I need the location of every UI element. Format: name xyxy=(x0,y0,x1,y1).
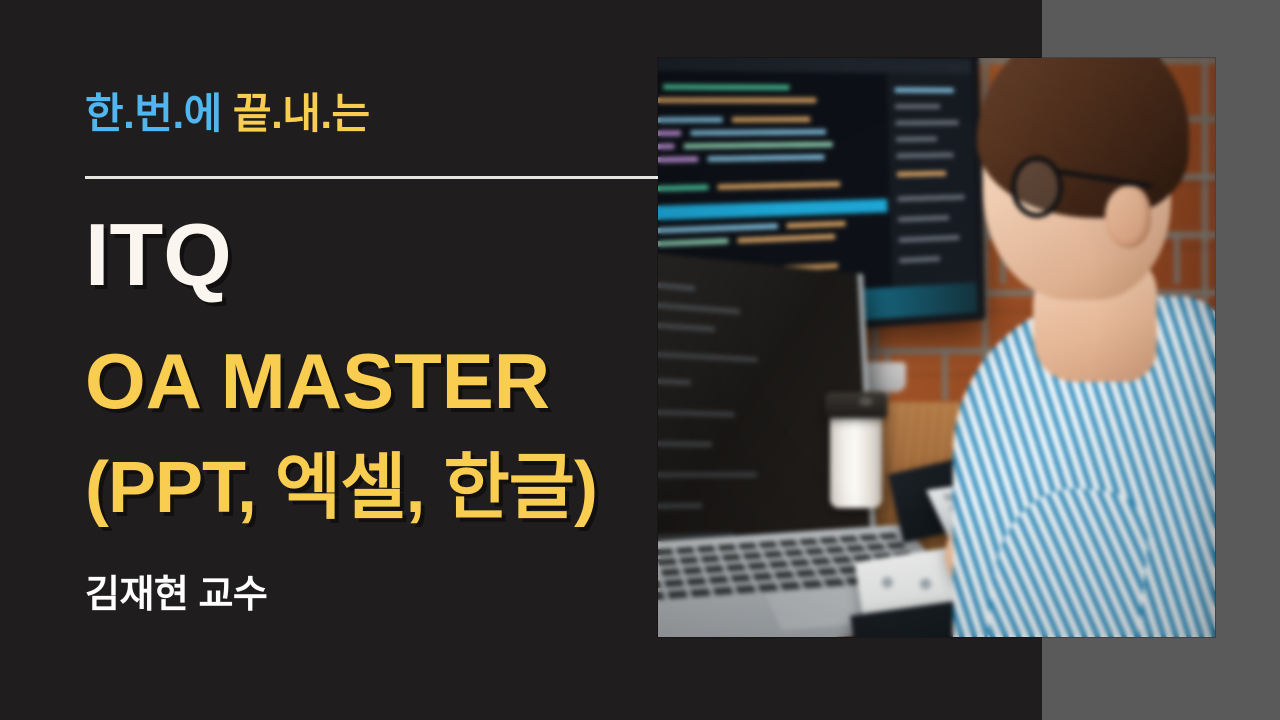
person-hair xyxy=(977,58,1189,218)
editor-side-pane xyxy=(884,73,977,287)
coffee-cup-lid xyxy=(825,392,887,418)
eyebrow-gold-segment: 끝.내.는 xyxy=(222,90,370,137)
person-ear xyxy=(1105,186,1151,248)
course-title-main: ITQ xyxy=(85,211,232,299)
slide-canvas: 한.번.에 끝.내.는 ITQ OA MASTER (PPT, 엑셀, 한글) … xyxy=(0,0,1280,720)
course-title-sub2: (PPT, 엑셀, 한글) xyxy=(85,452,597,524)
hero-photo xyxy=(658,58,1215,637)
glasses-lens-icon xyxy=(1011,156,1063,218)
divider-rule xyxy=(85,176,658,179)
text-column: 한.번.에 끝.내.는 ITQ OA MASTER (PPT, 엑셀, 한글) … xyxy=(85,0,660,720)
eyebrow-tagline: 한.번.에 끝.내.는 xyxy=(85,93,370,135)
photo-scene xyxy=(658,58,1215,637)
eyebrow-blue-segment: 한.번.에 xyxy=(85,90,222,137)
coffee-cup-body xyxy=(830,410,882,508)
presenter-name: 김재현 교수 xyxy=(85,576,267,614)
course-title-sub1: OA MASTER xyxy=(85,342,550,420)
editor-title-bar xyxy=(658,58,971,74)
